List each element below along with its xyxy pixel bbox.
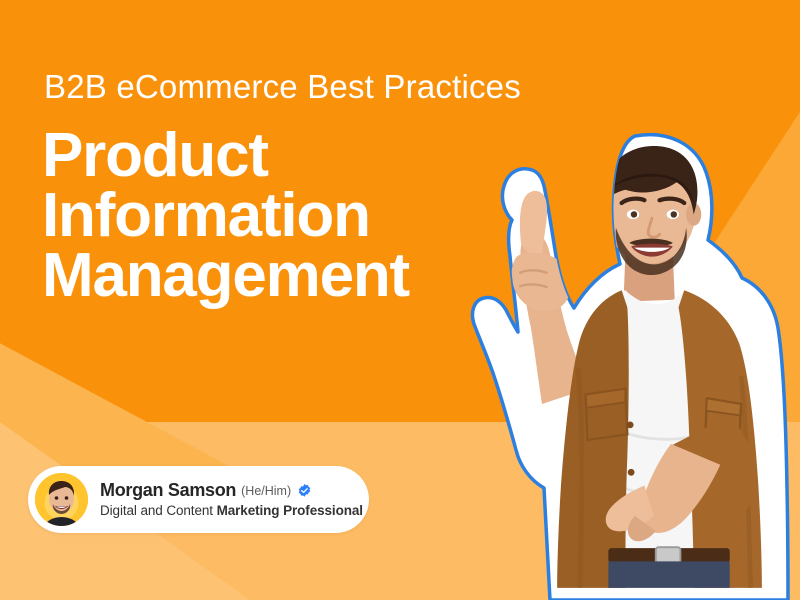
jacket-button [627, 421, 634, 428]
presenter-name-card: Morgan Samson (He/Him) Digital and Conte… [28, 466, 369, 533]
presenter-pronouns: (He/Him) [241, 484, 291, 498]
presenter-role: Digital and Content Marketing Profession… [100, 503, 363, 519]
presenter-illustration [430, 128, 800, 600]
verified-badge-icon [297, 483, 312, 498]
avatar-photo [35, 473, 88, 526]
avatar [35, 473, 88, 526]
jeans [608, 561, 729, 588]
jacket-button [628, 469, 635, 476]
slide-canvas: B2B eCommerce Best Practices Product Inf… [0, 0, 800, 600]
eye-right [671, 211, 677, 217]
headline-line-2: Information [42, 186, 409, 246]
presenter-role-prefix: Digital and Content [100, 503, 217, 518]
name-card-text: Morgan Samson (He/Him) Digital and Conte… [100, 480, 363, 518]
headline-line-1: Product [42, 126, 409, 186]
presenter-name: Morgan Samson [100, 480, 236, 501]
page-title: Product Information Management [42, 126, 409, 306]
presenter-cutout [430, 128, 800, 600]
presenter-role-strong: Marketing Professional [217, 503, 363, 518]
headline-line-3: Management [42, 246, 409, 306]
eyebrow-text: B2B eCommerce Best Practices [44, 68, 521, 106]
eye-left [631, 211, 637, 217]
name-row: Morgan Samson (He/Him) [100, 480, 363, 501]
